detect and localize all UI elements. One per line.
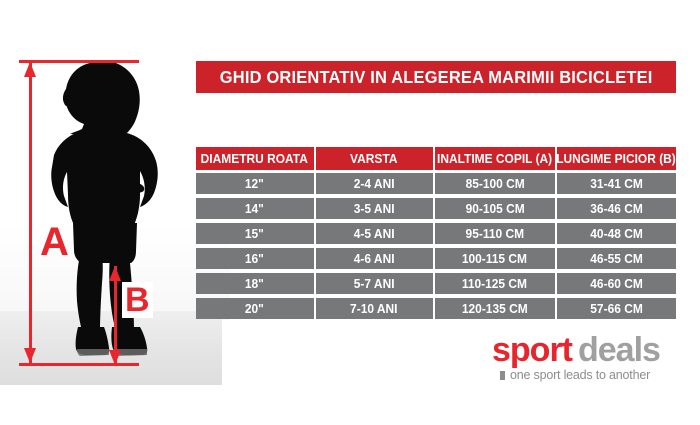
column-header-lungime-picior: LUNGIME PICIOR (B) (557, 147, 677, 170)
measure-line-a (29, 62, 32, 363)
logo-word-deals: deals (578, 331, 660, 369)
cell-leg-length: 46-55 CM (557, 248, 677, 269)
dimension-label-b: B (122, 282, 153, 318)
cell-age: 3-5 ANI (316, 198, 434, 219)
cell-age: 5-7 ANI (316, 273, 434, 294)
cell-leg-length: 46-60 CM (557, 273, 677, 294)
child-silhouette (30, 55, 190, 365)
cell-height: 90-105 CM (435, 198, 555, 219)
cell-leg-length: 57-66 CM (557, 298, 677, 319)
cell-wheel-diameter: 14" (196, 198, 314, 219)
measure-tick-top (19, 60, 139, 63)
logo-word-sport: sport (492, 331, 572, 369)
column-header-inaltime-copil: INALTIME COPIL (A) (435, 147, 555, 170)
column-header-diametru-roata: DIAMETRU ROATA (196, 147, 314, 170)
arrow-up-icon-a (24, 62, 36, 77)
measure-tick-baseline (19, 363, 139, 366)
cell-height: 85-100 CM (435, 173, 555, 194)
cell-wheel-diameter: 20" (196, 298, 314, 319)
cell-height: 110-125 CM (435, 273, 555, 294)
column-header-varsta: VARSTA (316, 147, 434, 170)
cell-leg-length: 40-48 CM (557, 223, 677, 244)
cell-age: 7-10 ANI (316, 298, 434, 319)
arrow-down-icon-b (109, 350, 121, 365)
cell-wheel-diameter: 18" (196, 273, 314, 294)
page-title-text: GHID ORIENTATIV IN ALEGEREA MARIMII BICI… (220, 67, 653, 88)
table-row: 20" 7-10 ANI 120-135 CM 57-66 CM (196, 298, 676, 319)
cell-wheel-diameter: 16" (196, 248, 314, 269)
size-chart-table: DIAMETRU ROATA VARSTA INALTIME COPIL (A)… (196, 147, 676, 323)
logo-tagline: one sport leads to another (492, 368, 678, 382)
square-bullet-icon (500, 371, 505, 380)
cell-wheel-diameter: 15" (196, 223, 314, 244)
cell-wheel-diameter: 12" (196, 173, 314, 194)
table-row: 18" 5-7 ANI 110-125 CM 46-60 CM (196, 273, 676, 294)
cell-age: 4-6 ANI (316, 248, 434, 269)
size-guide-infographic: A B GHID ORIENTATIV IN ALEGEREA MARIMII … (0, 0, 700, 425)
logo-tagline-text: one sport leads to another (510, 368, 650, 382)
table-header-row: DIAMETRU ROATA VARSTA INALTIME COPIL (A)… (196, 147, 676, 170)
page-title: GHID ORIENTATIV IN ALEGEREA MARIMII BICI… (196, 61, 676, 93)
table-row: 12" 2-4 ANI 85-100 CM 31-41 CM (196, 173, 676, 194)
brand-logo: sportdeals one sport leads to another (492, 333, 678, 381)
logo-wordmark: sportdeals (492, 333, 678, 367)
cell-age: 4-5 ANI (316, 223, 434, 244)
cell-age: 2-4 ANI (316, 173, 434, 194)
arrow-down-icon-a (24, 348, 36, 363)
table-row: 14" 3-5 ANI 90-105 CM 36-46 CM (196, 198, 676, 219)
dimension-label-a: A (40, 222, 69, 262)
cell-leg-length: 36-46 CM (557, 198, 677, 219)
cell-leg-length: 31-41 CM (557, 173, 677, 194)
arrow-up-icon-b (109, 266, 121, 281)
table-row: 16" 4-6 ANI 100-115 CM 46-55 CM (196, 248, 676, 269)
cell-height: 95-110 CM (435, 223, 555, 244)
table-row: 15" 4-5 ANI 95-110 CM 40-48 CM (196, 223, 676, 244)
cell-height: 100-115 CM (435, 248, 555, 269)
content-panel: GHID ORIENTATIV IN ALEGEREA MARIMII BICI… (196, 0, 700, 425)
cell-height: 120-135 CM (435, 298, 555, 319)
